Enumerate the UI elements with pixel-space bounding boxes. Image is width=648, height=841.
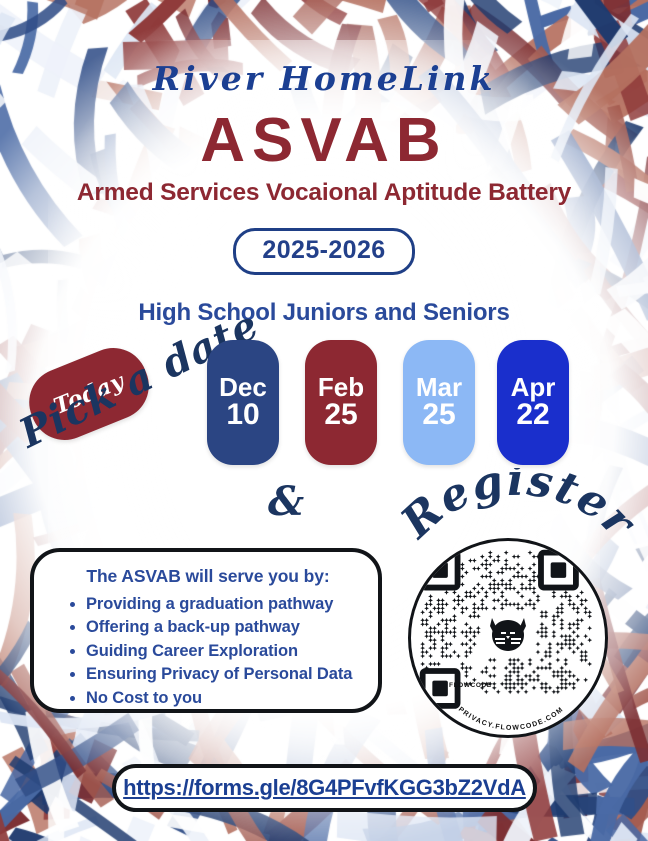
benefit-item: Ensuring Privacy of Personal Data [70, 663, 360, 686]
ampersand-label: & [268, 478, 304, 525]
page-title: ASVAB [0, 107, 648, 175]
date-pill-apr-22[interactable]: Apr22 [497, 340, 569, 465]
benefits-title: The ASVAB will serve you by: [56, 566, 360, 587]
date-pill-dec-10[interactable]: Dec10 [207, 340, 279, 465]
flowcode-qr[interactable]: PRIVACY.FLOWCODE.COM FLOWCODE [408, 538, 608, 738]
svg-text:PRIVACY.FLOWCODE.COM: PRIVACY.FLOWCODE.COM [457, 706, 565, 732]
date-pill-feb-25[interactable]: Feb25 [305, 340, 377, 465]
school-name: River HomeLink [0, 62, 648, 95]
page-subtitle: Armed Services Vocaional Aptitude Batter… [0, 181, 648, 206]
test-dates-row: Dec10Feb25Mar25Apr22 [0, 340, 648, 485]
date-pill-month: Apr [511, 374, 556, 401]
date-pill-mar-25[interactable]: Mar25 [403, 340, 475, 465]
school-year-badge: 2025-2026 [233, 228, 414, 275]
date-pill-day: 10 [226, 400, 259, 431]
date-pill-day: 25 [324, 400, 357, 431]
audience-line: High School Juniors and Seniors [0, 299, 648, 327]
benefit-item: No Cost to you [70, 687, 360, 710]
asvab-flyer: River HomeLink ASVAB Armed Services Voca… [0, 0, 648, 841]
benefit-item: Guiding Career Exploration [70, 640, 360, 663]
date-pill-month: Dec [219, 374, 267, 401]
benefits-card: The ASVAB will serve you by: Providing a… [30, 548, 382, 713]
date-pill-month: Mar [416, 374, 462, 401]
benefit-item: Providing a graduation pathway [70, 593, 360, 616]
benefits-list: Providing a graduation pathwayOffering a… [56, 593, 360, 710]
registration-url-pill[interactable]: https://forms.gle/8G4PFvfKGG3bZ2VdA [112, 764, 537, 812]
benefit-item: Offering a back-up pathway [70, 616, 360, 639]
lynx-mascot-icon [485, 612, 531, 656]
date-pill-day: 25 [422, 400, 455, 431]
header: River HomeLink ASVAB Armed Services Voca… [0, 62, 648, 327]
date-pill-day: 22 [516, 400, 549, 431]
date-pill-month: Feb [318, 374, 364, 401]
flowcode-brand-label: FLOWCODE [449, 682, 492, 689]
registration-url-link[interactable]: https://forms.gle/8G4PFvfKGG3bZ2VdA [123, 775, 526, 801]
qr-circle-frame: PRIVACY.FLOWCODE.COM FLOWCODE [408, 538, 608, 738]
